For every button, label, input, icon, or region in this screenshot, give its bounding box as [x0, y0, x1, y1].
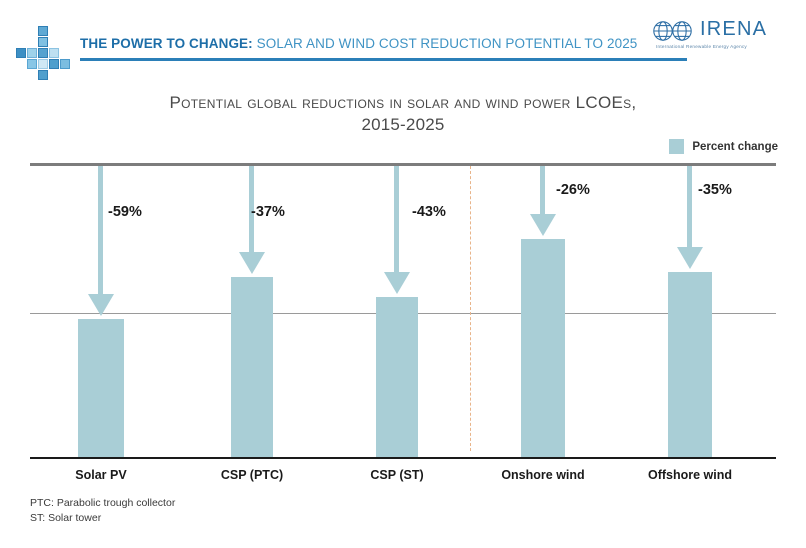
category-label-offshore-wind: Offshore wind — [630, 468, 750, 482]
chart-plot-area: -59% Solar PV -37% CSP (PTC) -43% CSP (S… — [0, 0, 806, 548]
bar-csp-st[interactable] — [376, 297, 418, 457]
arrow-shaft-solar-pv — [98, 166, 103, 294]
bar-csp-ptc[interactable] — [231, 277, 273, 457]
reference-line-top — [30, 163, 776, 166]
data-label-csp-ptc: -37% — [251, 204, 285, 220]
arrow-shaft-offshore-wind — [687, 166, 692, 247]
bar-offshore-wind[interactable] — [668, 272, 712, 457]
solar-wind-divider — [470, 166, 471, 451]
category-label-csp-st: CSP (ST) — [337, 468, 457, 482]
category-label-solar-pv: Solar PV — [41, 468, 161, 482]
data-label-solar-pv: -59% — [108, 204, 142, 220]
chart-footnotes: PTC: Parabolic trough collector ST: Sola… — [30, 496, 175, 526]
arrow-head-csp-ptc — [239, 252, 265, 274]
arrow-head-csp-st — [384, 272, 410, 294]
data-label-onshore-wind: -26% — [556, 182, 590, 198]
bar-onshore-wind[interactable] — [521, 239, 565, 457]
arrow-shaft-onshore-wind — [540, 166, 545, 214]
category-label-onshore-wind: Onshore wind — [483, 468, 603, 482]
arrow-head-solar-pv — [88, 294, 114, 316]
category-label-csp-ptc: CSP (PTC) — [192, 468, 312, 482]
arrow-shaft-csp-st — [394, 166, 399, 272]
data-label-offshore-wind: -35% — [698, 182, 732, 198]
arrow-head-offshore-wind — [677, 247, 703, 269]
footnote-ptc: PTC: Parabolic trough collector — [30, 496, 175, 511]
infographic-page: THE POWER TO CHANGE: SOLAR AND WIND COST… — [0, 0, 806, 548]
footnote-st: ST: Solar tower — [30, 511, 175, 526]
data-label-csp-st: -43% — [412, 204, 446, 220]
arrow-head-onshore-wind — [530, 214, 556, 236]
axis-line-baseline — [30, 457, 776, 459]
bar-solar-pv[interactable] — [78, 319, 124, 457]
